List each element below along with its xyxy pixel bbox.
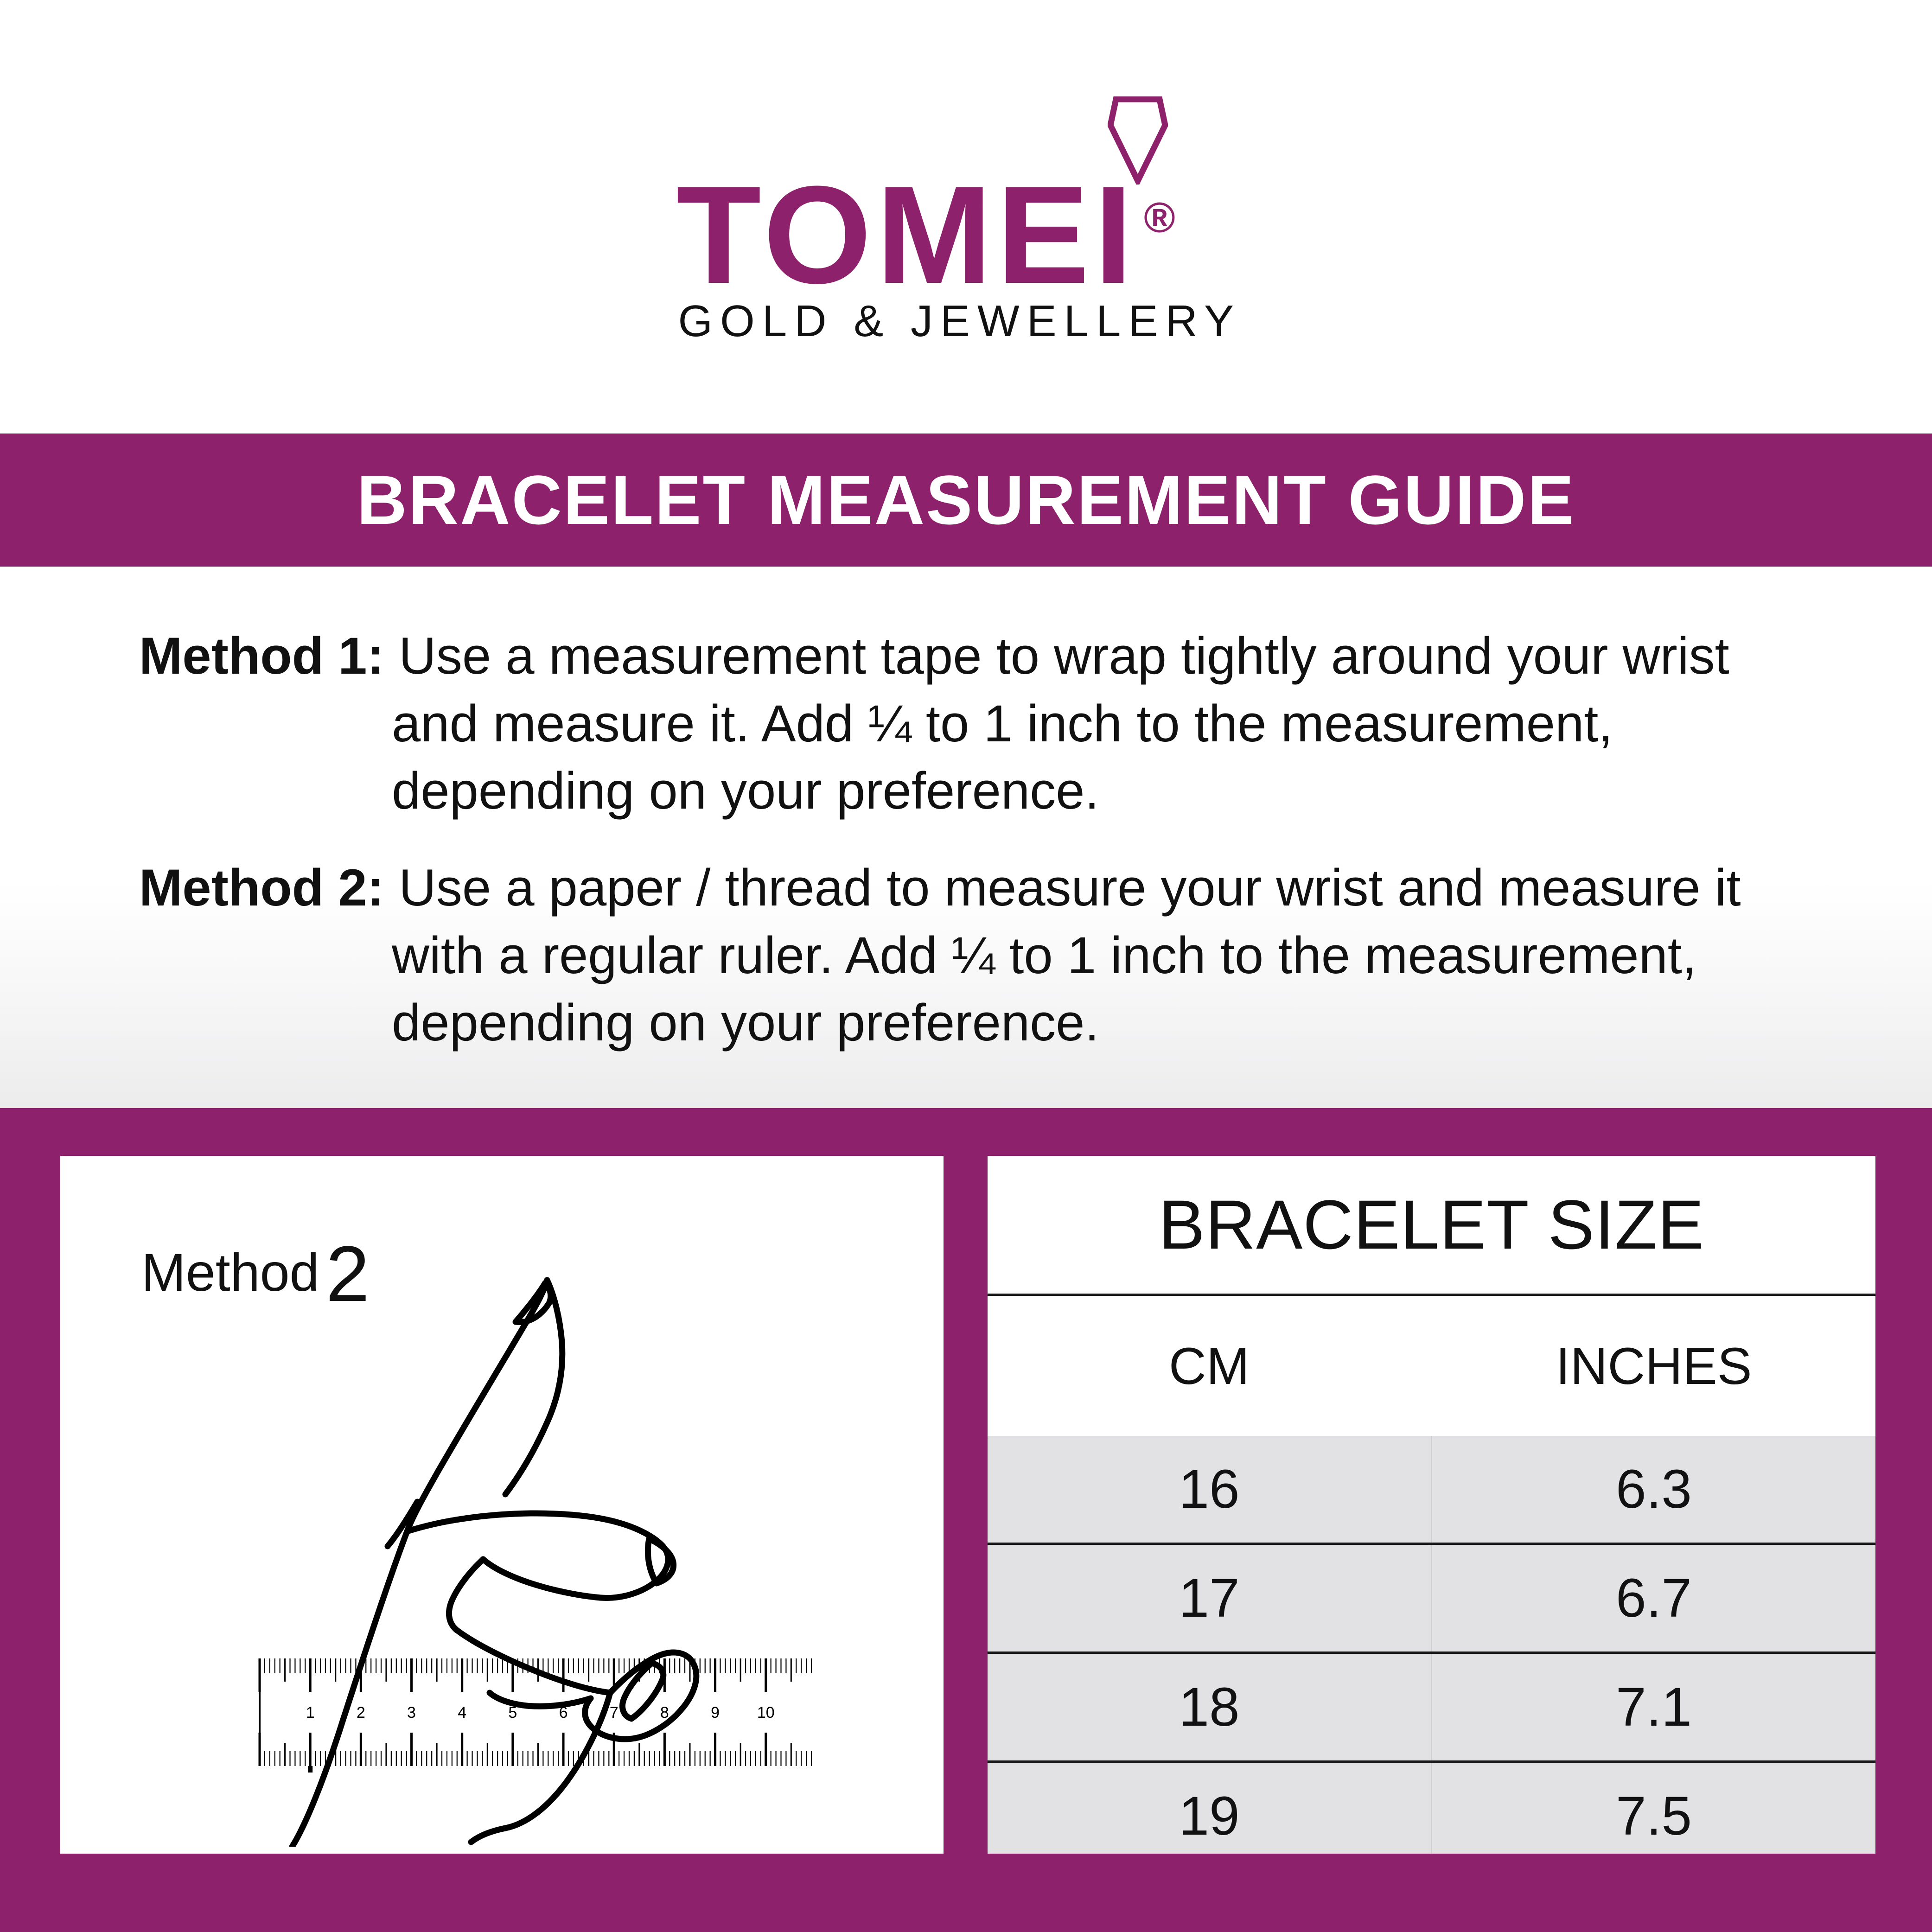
ruler-tick-label: 2 xyxy=(357,1704,365,1722)
cell-inches: 6.7 xyxy=(1432,1544,1876,1653)
methods-section: Method 1: Use a measurement tape to wrap… xyxy=(0,567,1932,1108)
ruler-icon: 12345678910 xyxy=(255,1652,816,1773)
ruler-tick-label: 3 xyxy=(407,1704,416,1722)
ruler-tick-label: 6 xyxy=(559,1704,568,1722)
method-1-line-1: Use a measurement tape to wrap tightly a… xyxy=(399,627,1729,685)
cell-cm: 18 xyxy=(988,1653,1432,1762)
method-1-label: Method 1: xyxy=(139,627,384,685)
brand-header: TOMEI® GOLD & JEWELLERY xyxy=(0,0,1932,434)
ruler-tick-label: 5 xyxy=(508,1704,517,1722)
ruler-tick-label: 7 xyxy=(610,1704,618,1722)
bracelet-size-table-panel: BRACELET SIZE CM INCHES 16 6.3 17 6.7 18… xyxy=(988,1156,1875,1854)
method-1-block: Method 1: Use a measurement tape to wrap… xyxy=(139,622,1817,825)
table-row: 19 7.5 xyxy=(988,1762,1875,1854)
method-2-line-2: with a regular ruler. Add ¼ to 1 inch to… xyxy=(139,922,1817,989)
cell-cm: 16 xyxy=(988,1436,1432,1544)
table-caption: BRACELET SIZE xyxy=(988,1156,1875,1295)
registered-mark-icon: ® xyxy=(1144,194,1175,242)
ruler-tick-label: 8 xyxy=(660,1704,669,1722)
cell-cm: 17 xyxy=(988,1544,1432,1653)
page-title-band: BRACELET MEASUREMENT GUIDE xyxy=(0,434,1932,567)
ruler-tick-label: 1 xyxy=(306,1704,315,1722)
method-1-line-3: depending on your preference. xyxy=(139,757,1817,825)
cell-inches: 7.5 xyxy=(1432,1762,1876,1854)
ruler-tick-label: 4 xyxy=(458,1704,466,1722)
brand-name: TOMEI xyxy=(676,157,1138,312)
cell-cm: 19 xyxy=(988,1762,1432,1854)
page-title: BRACELET MEASUREMENT GUIDE xyxy=(357,460,1575,540)
illustration-and-table-frame: Method2 xyxy=(0,1108,1932,1932)
table-row: 16 6.3 xyxy=(988,1436,1875,1544)
table-row: 17 6.7 xyxy=(988,1544,1875,1653)
table-row: 18 7.1 xyxy=(988,1653,1875,1762)
column-header-cm: CM xyxy=(988,1295,1432,1436)
cell-inches: 7.1 xyxy=(1432,1653,1876,1762)
cell-inches: 6.3 xyxy=(1432,1436,1876,1544)
column-header-inches: INCHES xyxy=(1432,1295,1876,1436)
table-caption-row: BRACELET SIZE xyxy=(988,1156,1875,1295)
bracelet-size-table: BRACELET SIZE CM INCHES 16 6.3 17 6.7 18… xyxy=(988,1156,1875,1854)
brand-tagline: GOLD & JEWELLERY xyxy=(678,296,1235,347)
logo: TOMEI® GOLD & JEWELLERY xyxy=(676,96,1256,338)
table-header-row: CM INCHES xyxy=(988,1295,1875,1436)
method-1-line-2: and measure it. Add ¼ to 1 inch to the m… xyxy=(139,690,1817,758)
ruler-tick-label: 9 xyxy=(711,1704,720,1722)
ruler-tick-label: 10 xyxy=(757,1704,775,1722)
brand-wordmark: TOMEI® xyxy=(676,152,1233,304)
method-2-line-1: Use a paper / thread to measure your wri… xyxy=(399,859,1741,917)
method-2-line-3: depending on your preference. xyxy=(139,989,1817,1057)
illustration-panel: Method2 xyxy=(60,1156,944,1854)
method-2-block: Method 2: Use a paper / thread to measur… xyxy=(139,854,1817,1057)
method-2-label: Method 2: xyxy=(139,859,384,917)
